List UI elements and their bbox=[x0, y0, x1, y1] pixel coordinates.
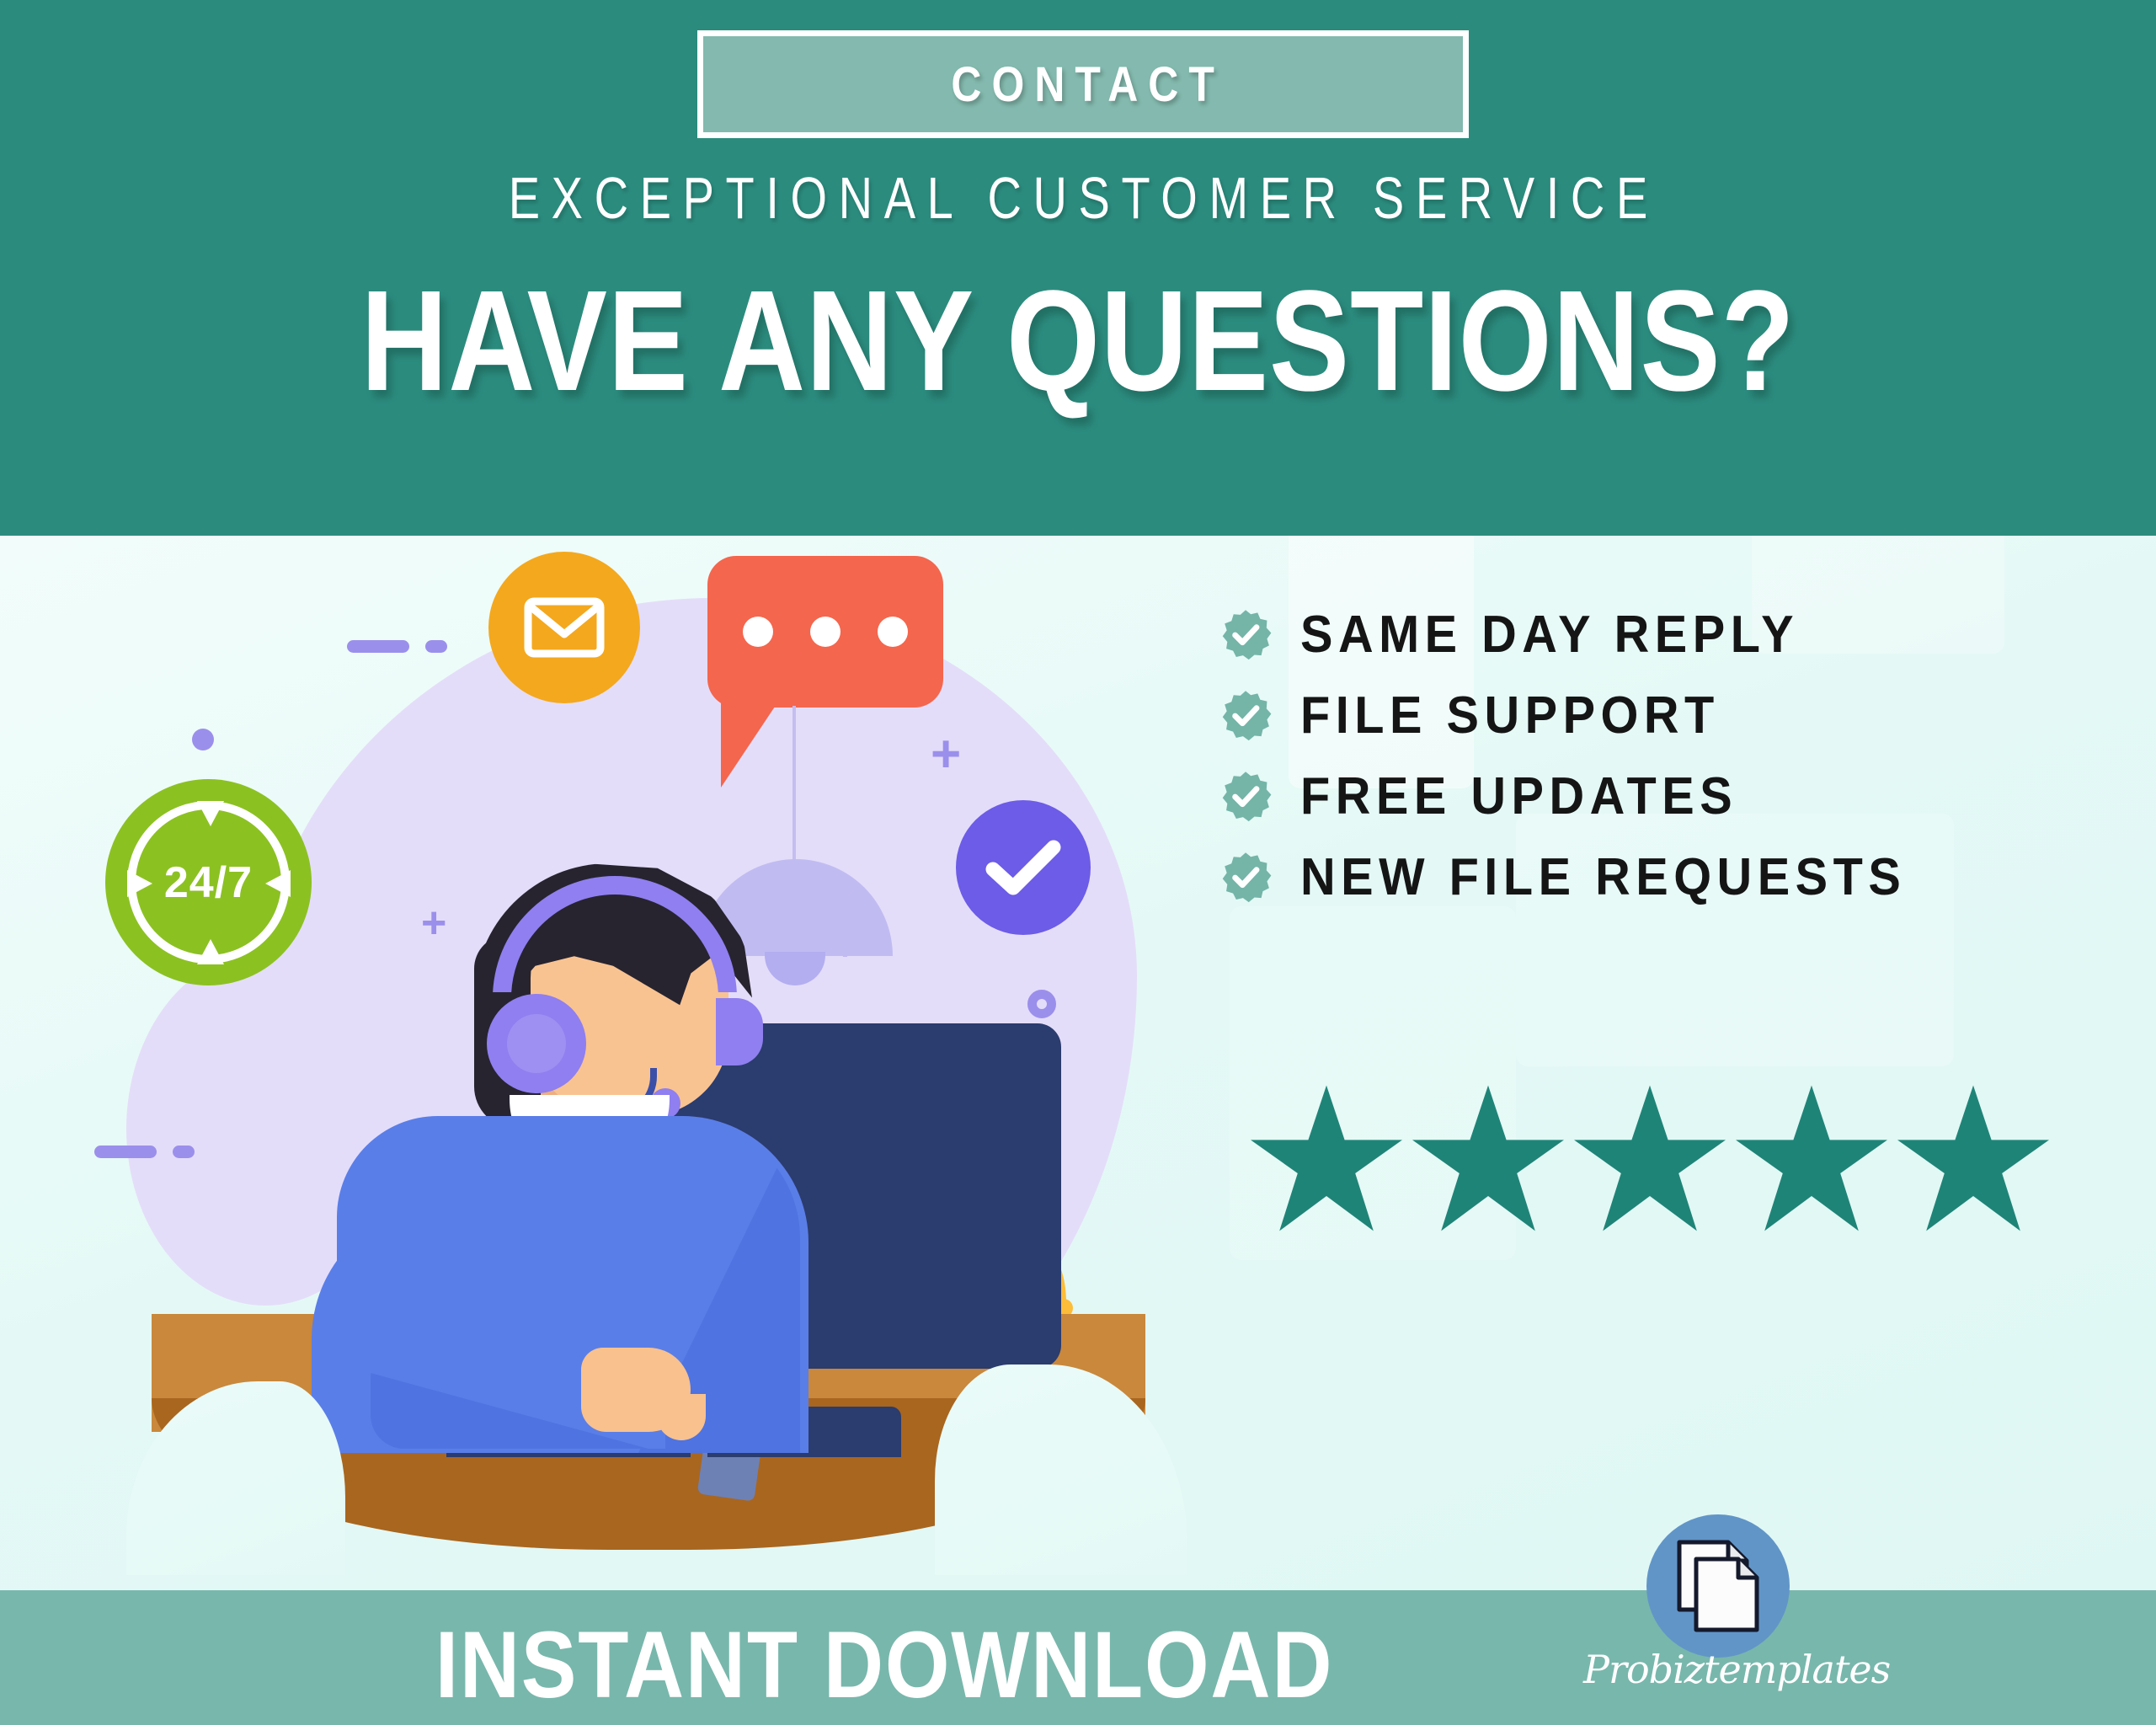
support-agent-figure bbox=[320, 842, 910, 1449]
headset-right-ear bbox=[716, 998, 763, 1065]
star-icon bbox=[1897, 1082, 2049, 1234]
brand-name: Probiztemplates bbox=[1583, 1647, 1861, 1692]
envelope-glyph bbox=[524, 597, 605, 658]
decor-plus-icon: + bbox=[931, 729, 961, 781]
decor-dash-short bbox=[425, 640, 447, 653]
feature-label: FREE UPDATES bbox=[1300, 771, 1737, 823]
decor-ring-icon bbox=[1027, 990, 1056, 1018]
support-illustration: + + + 24/7 bbox=[126, 556, 1171, 1583]
star-rating bbox=[1251, 1082, 2049, 1234]
brand-logo bbox=[1646, 1514, 1790, 1658]
chat-bubble-icon bbox=[707, 556, 943, 708]
feature-item: FILE SUPPORT bbox=[1219, 686, 1951, 746]
star-icon bbox=[1736, 1082, 1887, 1234]
check-badge-icon bbox=[1219, 690, 1272, 742]
clock-badge: 24/7 bbox=[105, 779, 312, 985]
feature-label: NEW FILE REQUESTS bbox=[1300, 852, 1906, 904]
feature-item: FREE UPDATES bbox=[1219, 766, 1951, 827]
typing-dot bbox=[878, 617, 908, 647]
promo-graphic: CONTACT EXCEPTIONAL CUSTOMER SERVICE HAV… bbox=[0, 0, 2156, 1725]
desk-mask-right bbox=[935, 1365, 1187, 1575]
check-glyph bbox=[985, 837, 1062, 898]
feature-label: FILE SUPPORT bbox=[1300, 690, 1720, 742]
decor-dash bbox=[94, 1146, 157, 1158]
chat-bubble-tail bbox=[721, 699, 780, 788]
page-title: HAVE ANY QUESTIONS? bbox=[173, 270, 1983, 413]
check-badge-icon bbox=[1219, 771, 1272, 823]
verified-check-icon bbox=[956, 800, 1091, 935]
typing-dot bbox=[810, 617, 841, 647]
envelope-icon bbox=[488, 552, 640, 703]
check-badge-icon bbox=[1219, 852, 1272, 904]
subheading: EXCEPTIONAL CUSTOMER SERVICE bbox=[216, 164, 1940, 232]
star-icon bbox=[1251, 1082, 1402, 1234]
decor-dot bbox=[192, 729, 214, 750]
instant-download-label: INSTANT DOWNLOAD bbox=[106, 1610, 1662, 1719]
documents-icon bbox=[1674, 1539, 1762, 1633]
decor-dash-short bbox=[173, 1146, 195, 1158]
feature-item: NEW FILE REQUESTS bbox=[1219, 847, 1951, 908]
decor-dash bbox=[347, 640, 409, 653]
header-band: CONTACT EXCEPTIONAL CUSTOMER SERVICE HAV… bbox=[0, 0, 2156, 536]
star-icon bbox=[1412, 1082, 1564, 1234]
contact-badge-label: CONTACT bbox=[942, 56, 1225, 113]
feature-label: SAME DAY REPLY bbox=[1300, 609, 1799, 661]
feature-list: SAME DAY REPLY FILE SUPPORT FREE UPDATES bbox=[1219, 605, 1951, 928]
contact-badge: CONTACT bbox=[697, 30, 1469, 138]
check-badge-icon bbox=[1219, 609, 1272, 661]
feature-item: SAME DAY REPLY bbox=[1219, 605, 1951, 665]
typing-dot bbox=[743, 617, 773, 647]
headset-earcup-inner bbox=[507, 1014, 566, 1073]
clock-badge-label: 24/7 bbox=[105, 779, 312, 985]
star-icon bbox=[1574, 1082, 1726, 1234]
